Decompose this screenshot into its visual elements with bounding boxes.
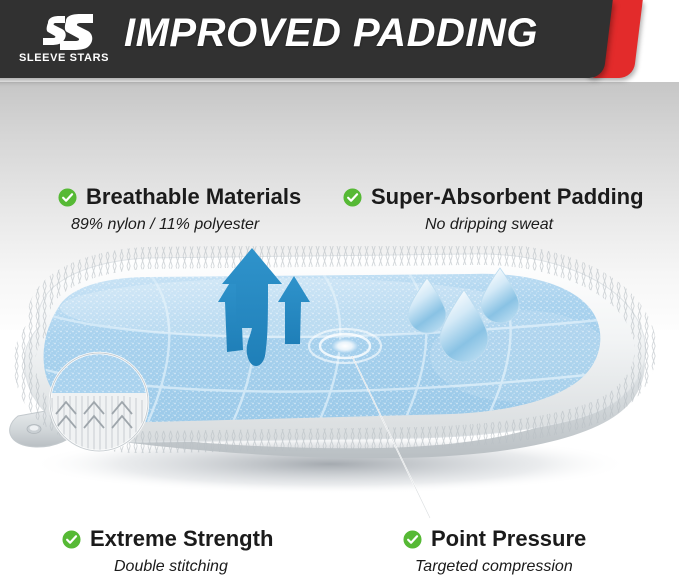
feature-title: Point Pressure — [431, 528, 586, 550]
feature-subtitle: 89% nylon / 11% polyester — [71, 217, 301, 233]
check-circle-icon — [403, 530, 422, 549]
feature-super-absorbent-padding: Super-Absorbent Padding No dripping swea… — [343, 186, 644, 233]
infographic-page: SLEEVE STARS IMPROVED PADDING Breathable… — [0, 0, 679, 582]
feature-subtitle: Targeted compression — [415, 559, 586, 575]
product-illustration — [0, 246, 679, 521]
feature-subtitle: Double stitching — [114, 559, 273, 575]
feature-breathable-materials: Breathable Materials 89% nylon / 11% pol… — [58, 186, 301, 233]
feature-point-pressure: Point Pressure Targeted compression — [403, 528, 586, 575]
feature-title: Breathable Materials — [86, 186, 301, 208]
feature-title: Extreme Strength — [90, 528, 273, 550]
feature-subtitle: No dripping sweat — [425, 217, 644, 233]
feature-title: Super-Absorbent Padding — [371, 186, 644, 208]
page-title: IMPROVED PADDING — [124, 11, 538, 56]
feature-extreme-strength: Extreme Strength Double stitching — [62, 528, 273, 575]
header-bar: SLEEVE STARS IMPROVED PADDING — [0, 0, 613, 78]
check-circle-icon — [343, 188, 362, 207]
brand-logo[interactable]: SLEEVE STARS — [16, 14, 112, 70]
brand-name: SLEEVE STARS — [16, 52, 112, 64]
pressure-point-dimple — [309, 329, 381, 363]
sleeve-stars-monogram-icon — [38, 14, 96, 50]
check-circle-icon — [62, 530, 81, 549]
header-banner: SLEEVE STARS IMPROVED PADDING — [0, 0, 679, 86]
check-circle-icon — [58, 188, 77, 207]
